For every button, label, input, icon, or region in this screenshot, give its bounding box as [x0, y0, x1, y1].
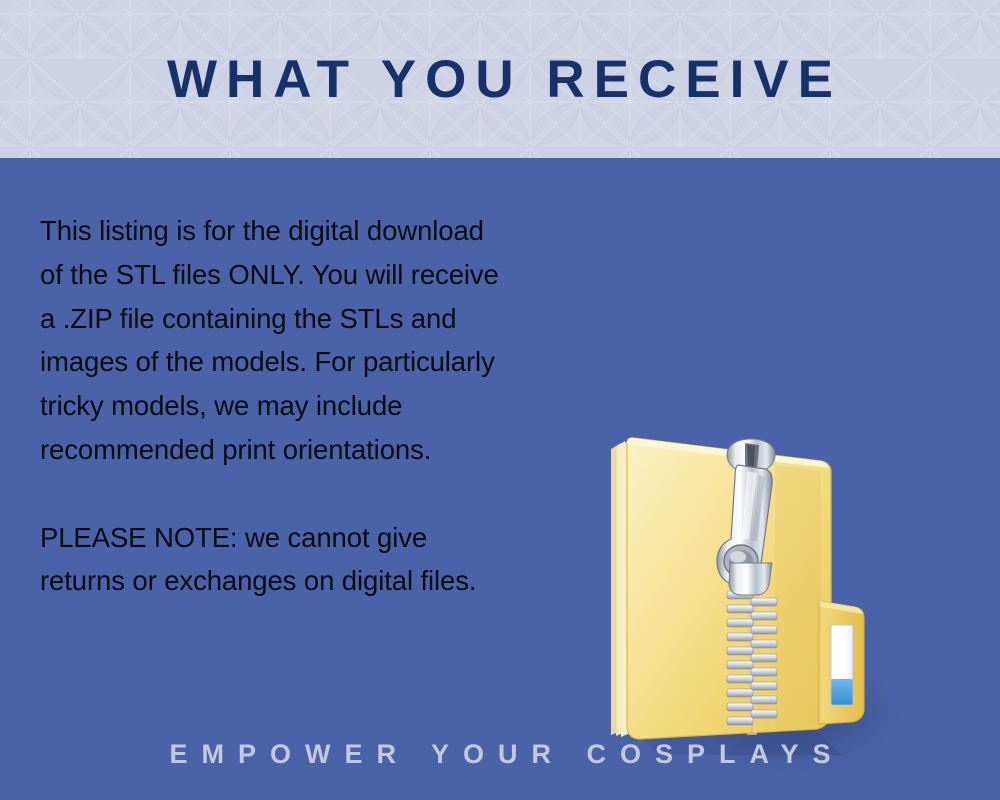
- body-area: This listing is for the digital download…: [0, 158, 1000, 800]
- footer-tagline: EMPOWER YOUR COSPLAYS: [0, 739, 1000, 770]
- folder-side-tab: [819, 601, 864, 724]
- header-band: WHAT YOU RECEIVE: [0, 0, 1000, 158]
- page-title: WHAT YOU RECEIVE: [0, 0, 1000, 158]
- paragraph-listing-details: This listing is for the digital download…: [40, 209, 510, 472]
- paragraph-please-note: PLEASE NOTE: we cannot give returns or e…: [40, 516, 510, 604]
- zip-folder-icon: [575, 413, 905, 773]
- description-copy: This listing is for the digital download…: [40, 209, 510, 603]
- tab-label-blue-band: [831, 679, 853, 705]
- promo-graphic: WHAT YOU RECEIVE This listing is for the…: [0, 0, 1000, 800]
